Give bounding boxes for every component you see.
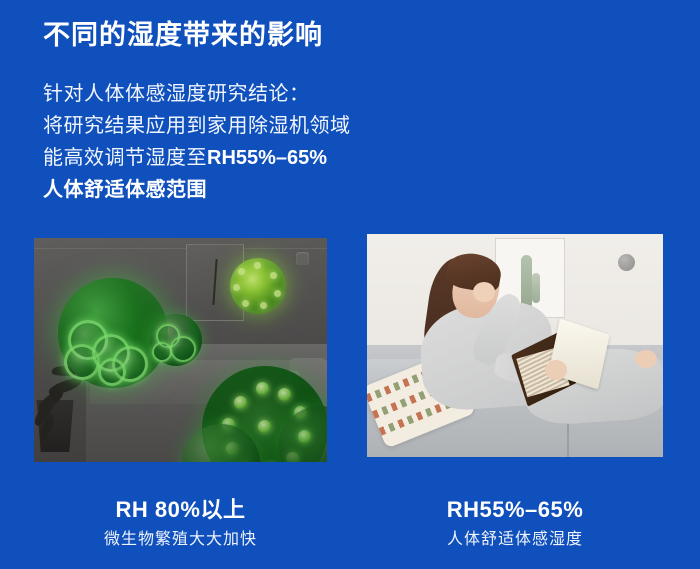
caption-high-humidity: RH 80%以上 微生物繁殖大大加快 — [34, 496, 327, 552]
body-copy-line-3-prefix: 能高效调节湿度至 — [43, 147, 207, 169]
body-copy-line-1: 针对人体体感湿度研究结论： — [43, 78, 351, 110]
microbe-spike-icon — [238, 268, 245, 275]
wall-panel-icon-dim — [296, 252, 309, 265]
microbe-spike-icon — [274, 290, 281, 297]
microbe-spike-icon — [278, 388, 291, 401]
microbe-ring-icon — [152, 342, 172, 362]
body-copy-line-2: 将研究结果应用到家用除湿机领域 — [43, 110, 351, 142]
microbe-spike-icon — [242, 300, 249, 307]
caption-title: RH 80%以上 — [34, 496, 327, 524]
microbe-spike-icon — [233, 284, 240, 291]
woman-hand-holding-book — [545, 360, 567, 380]
caption-subtitle: 微生物繁殖大大加快 — [34, 528, 327, 552]
microbe-orb-medium-icon — [150, 314, 202, 366]
microbe-cell-icon — [98, 358, 126, 386]
photo-high-humidity — [34, 238, 327, 462]
microbe-spike-icon — [256, 382, 269, 395]
wall-art-plant-graphic — [212, 259, 217, 305]
microbe-orb-bright-icon — [230, 258, 286, 314]
woman-hand-at-forehead — [473, 282, 495, 302]
microbe-spike-icon — [254, 262, 261, 269]
caption-comfort-humidity: RH55%–65% 人体舒适体感湿度 — [367, 496, 663, 552]
microbe-ring-icon — [170, 336, 196, 362]
wall-panel-icon-bright — [618, 254, 635, 271]
body-copy: 针对人体体感湿度研究结论： 将研究结果应用到家用除湿机领域 能高效调节湿度至RH… — [43, 78, 351, 206]
wall-molding-line — [34, 248, 327, 249]
microbe-spike-icon — [270, 272, 277, 279]
caption-subtitle: 人体舒适体感湿度 — [367, 528, 663, 552]
body-copy-line-3-highlight: RH55%–65% — [207, 147, 327, 169]
body-copy-line-4: 人体舒适体感范围 — [43, 174, 351, 206]
body-copy-line-3: 能高效调节湿度至RH55%–65% — [43, 142, 351, 174]
microbe-spike-icon — [258, 420, 271, 433]
photo-comfort-humidity — [367, 234, 663, 457]
microbe-spike-icon — [234, 396, 247, 409]
infographic-page: 不同的湿度带来的影响 针对人体体感湿度研究结论： 将研究结果应用到家用除湿机领域… — [0, 0, 700, 569]
woman-foot — [635, 350, 657, 368]
cactus-graphic-icon — [521, 255, 532, 309]
microbe-spike-icon — [260, 302, 267, 309]
page-title: 不同的湿度带来的影响 — [43, 18, 323, 52]
caption-title: RH55%–65% — [367, 496, 663, 524]
